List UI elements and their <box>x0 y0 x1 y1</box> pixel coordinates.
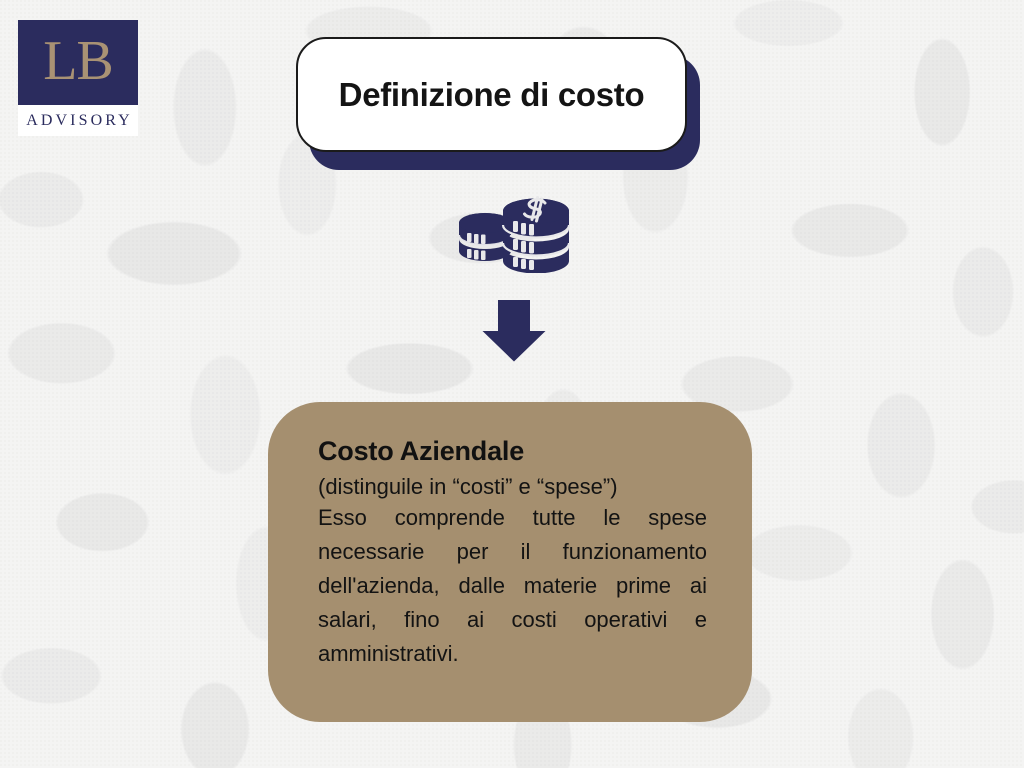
arrow-down-icon <box>481 300 547 362</box>
logo: LB ADVISORY <box>18 20 138 136</box>
coins-stack-icon <box>453 193 571 273</box>
slide-canvas: LB ADVISORY Definizione di costo <box>0 0 1024 768</box>
title-card: Definizione di costo <box>296 37 687 152</box>
title-card-face: Definizione di costo <box>296 37 687 152</box>
page-title: Definizione di costo <box>339 76 645 114</box>
body-subheading: (distinguile in “costi” e “spese”) <box>318 472 707 501</box>
body-heading: Costo Aziendale <box>318 436 707 468</box>
logo-wordmark: ADVISORY <box>18 105 138 136</box>
body-paragraph: Esso comprende tutte le spese necessarie… <box>318 501 707 671</box>
logo-initials: LB <box>18 20 138 105</box>
body-card: Costo Aziendale (distinguile in “costi” … <box>268 402 752 722</box>
